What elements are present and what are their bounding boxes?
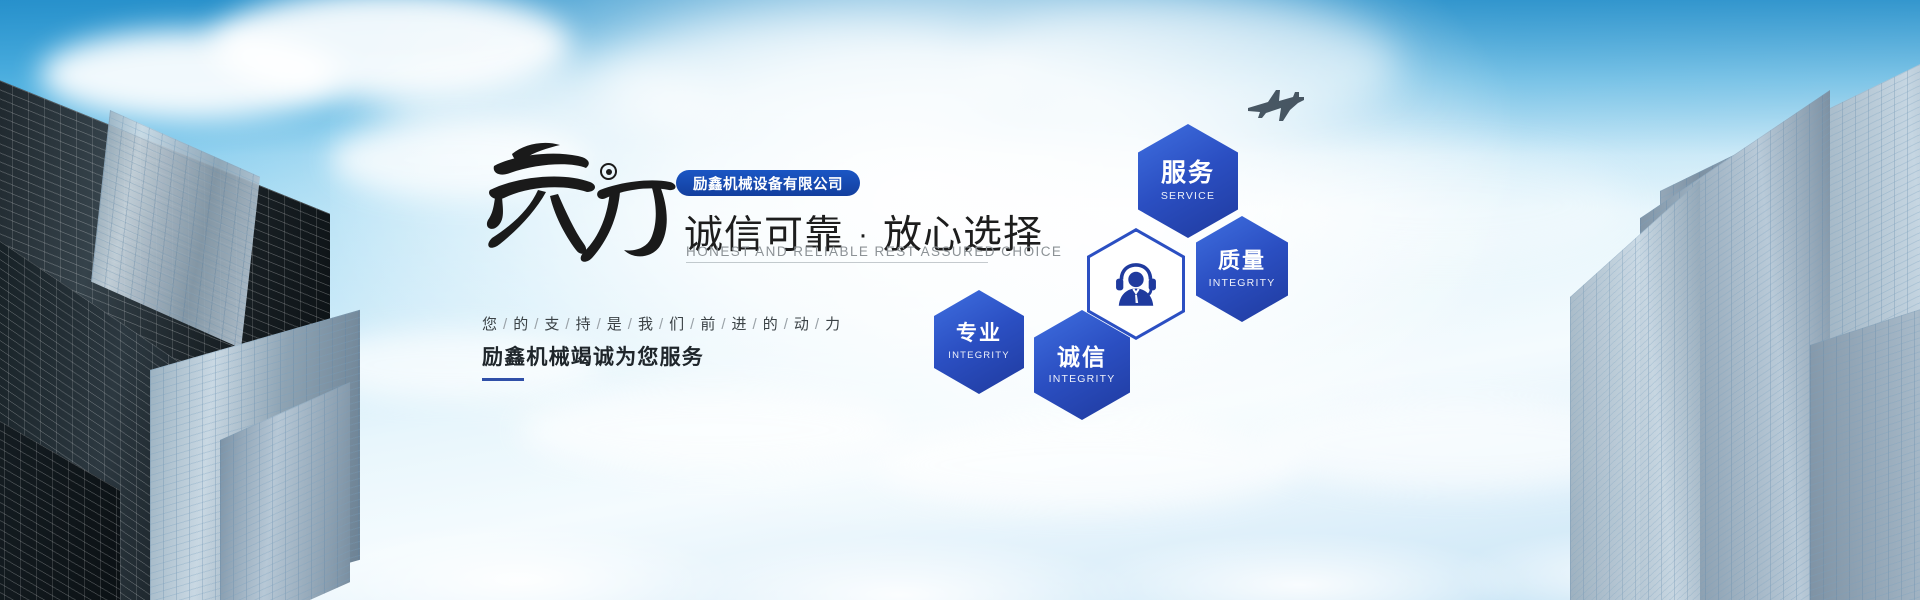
promo-banner: 励鑫机械设备有限公司 诚信可靠·放心选择 HONEST AND RELIABLE… [0, 0, 1920, 600]
operator-headset-icon [1107, 255, 1165, 313]
hexagon-quality[interactable]: 质量 INTEGRITY [1196, 216, 1288, 322]
hexagon-integrity-cn: 诚信 [1057, 345, 1107, 369]
hexagon-quality-cn: 质量 [1218, 249, 1266, 272]
hexagon-quality-en: INTEGRITY [1209, 277, 1276, 289]
hexagon-service[interactable]: 服务 SERVICE [1138, 124, 1238, 238]
hexagon-professional-en: INTEGRITY [948, 350, 1009, 361]
hexagon-integrity-en: INTEGRITY [1049, 373, 1116, 385]
hexagon-service-cn: 服务 [1161, 160, 1215, 186]
hexagon-service-en: SERVICE [1161, 190, 1215, 202]
hexagon-professional-cn: 专业 [956, 323, 1002, 345]
hexagon-professional[interactable]: 专业 INTEGRITY [934, 290, 1024, 394]
hexagon-cluster: 服务 SERVICE 质量 INTEGRITY 专业 INTEGRITY 诚信 … [0, 0, 1920, 600]
